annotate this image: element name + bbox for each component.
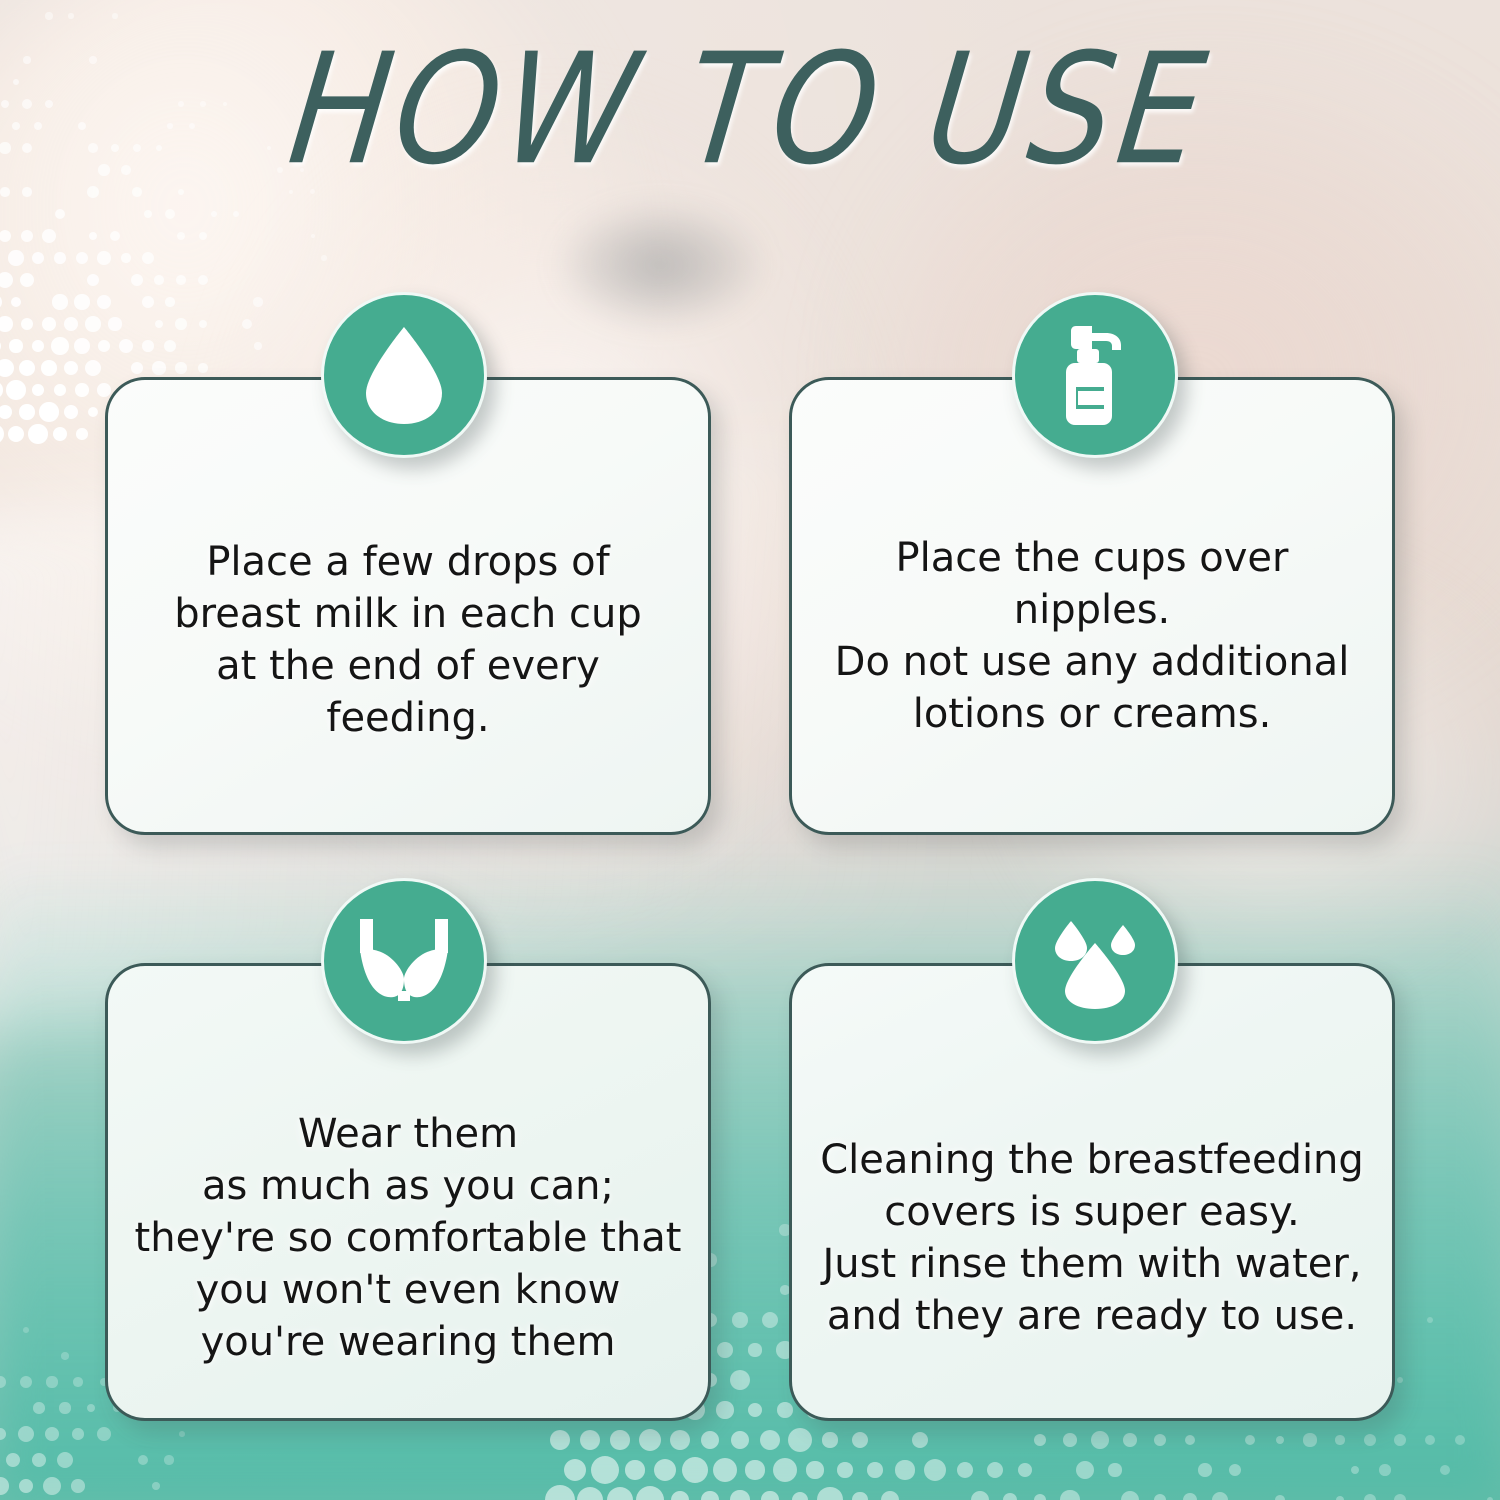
background-face-detail-one <box>560 205 760 325</box>
instruction-card-4-text: Cleaning the breastfeeding covers is sup… <box>798 1134 1386 1342</box>
water-droplet-icon <box>321 292 487 458</box>
instruction-card-3-text: Wear them as much as you can; they're so… <box>113 1108 704 1368</box>
how-to-use-poster: HOW TO USE Place a few drops of breast m… <box>0 0 1500 1500</box>
instruction-card-1-text: Place a few drops of breast milk in each… <box>152 536 663 744</box>
lotion-pump-bottle-icon <box>1012 292 1178 458</box>
instruction-card-2-text: Place the cups over nipples. Do not use … <box>792 532 1392 740</box>
page-title: HOW TO USE <box>0 33 1500 186</box>
water-droplets-icon <box>1012 878 1178 1044</box>
bra-icon <box>321 878 487 1044</box>
